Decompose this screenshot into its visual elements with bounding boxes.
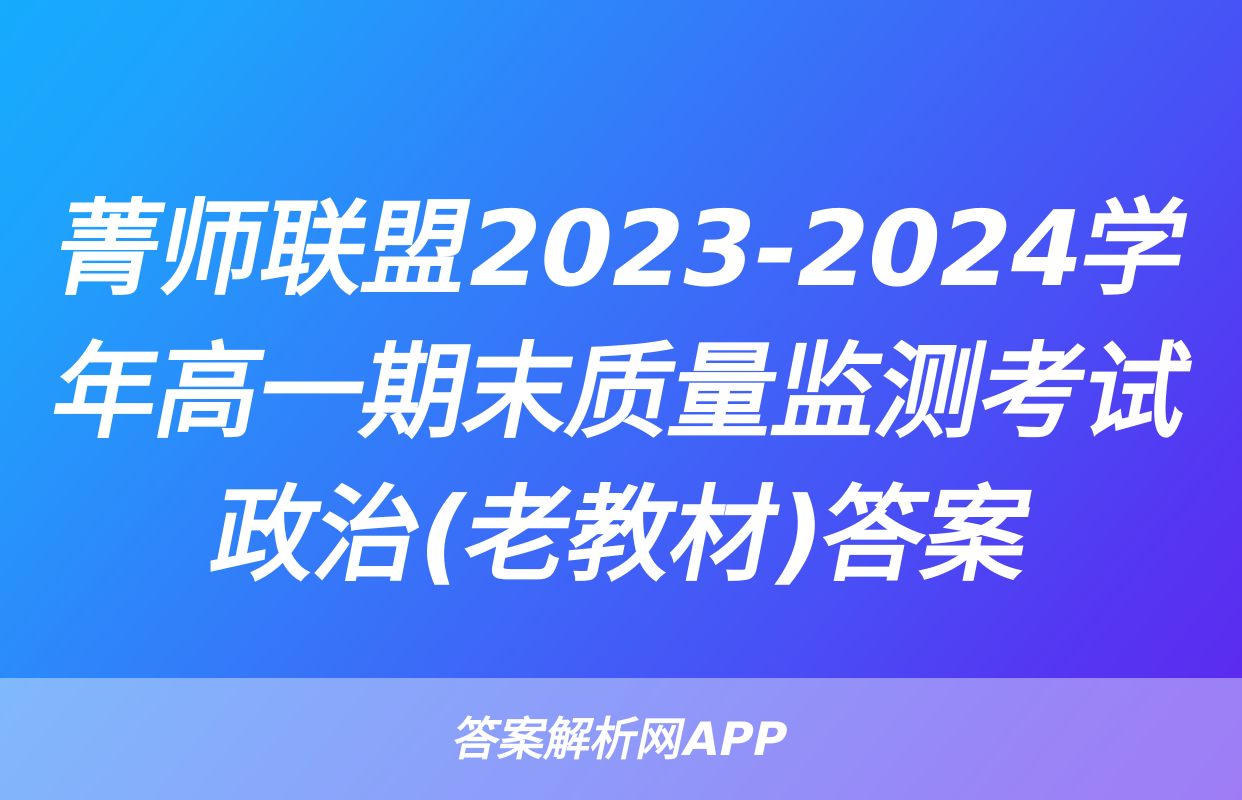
title-line-2: 年高一期末质量监测考试 — [34, 321, 1208, 464]
title-line-1: 菁师联盟2023-2024学 — [34, 178, 1208, 321]
title-line-3: 政治(老教材)答案 — [34, 464, 1208, 607]
page-title: 菁师联盟2023-2024学 年高一期末质量监测考试 政治(老教材)答案 — [0, 178, 1242, 607]
exam-answer-poster: 菁师联盟2023-2024学 年高一期末质量监测考试 政治(老教材)答案 答案解… — [0, 0, 1242, 800]
footer-brand-band: 答案解析网APP — [0, 678, 1242, 800]
app-brand-label: 答案解析网APP — [450, 716, 793, 762]
